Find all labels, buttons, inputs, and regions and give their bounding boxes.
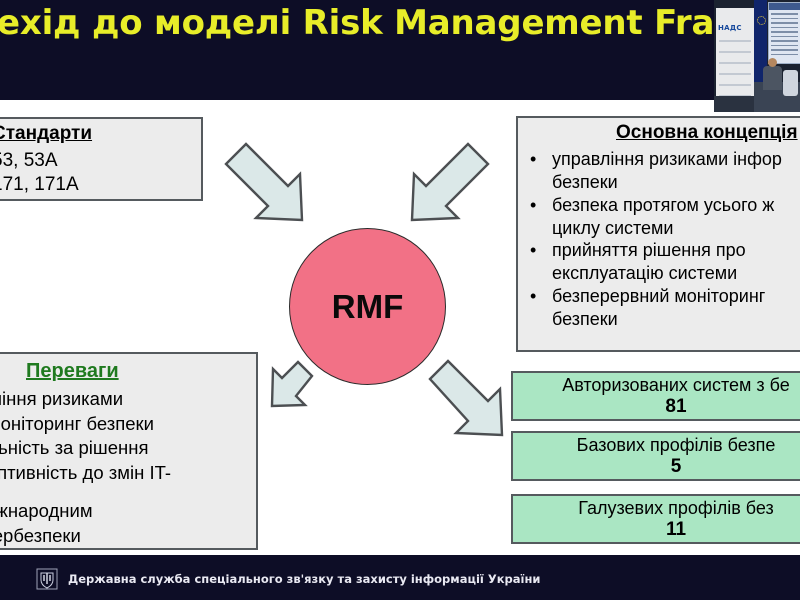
standards-box-lines: 800-53, 53A 800-171, 171A [0, 149, 195, 198]
advantages-box: Переваги управління ризиками вний моніто… [0, 352, 258, 550]
page-title: ерехід до моделі Risk Management Fram [0, 3, 749, 43]
bullet-text: прийняття рішення про [552, 239, 746, 262]
arrow-rmf-to-advantages-icon [256, 358, 318, 420]
webcam-projector-screen [768, 2, 800, 64]
trident-emblem-icon [36, 567, 58, 591]
stat-label: Базових профілів безпе [513, 433, 800, 456]
rmf-label: RMF [332, 288, 403, 326]
webcam-person-body [763, 66, 782, 90]
stat-value: 11 [513, 519, 800, 541]
bullet-item: • безпека протягом усього ж [526, 194, 800, 217]
slide-canvas: Стандарти 800-53, 53A 800-171, 171A Пере… [0, 100, 800, 555]
advantage-line: управління ризиками [0, 387, 248, 412]
bullet-text-wrap: безпеки [526, 171, 800, 194]
advantages-box-lines: управління ризиками вний моніторинг безп… [0, 387, 248, 549]
slide-title-bar: ерехід до моделі Risk Management Fram [0, 0, 800, 100]
webcam-chair [783, 70, 798, 96]
stat-value: 81 [513, 396, 800, 418]
standards-box-title: Стандарти [0, 123, 195, 145]
stat-label: Галузевих профілів без [513, 496, 800, 519]
bullet-dot-icon: • [526, 148, 552, 171]
stat-value: 5 [513, 456, 800, 478]
bullet-text: управління ризиками інфор [552, 148, 782, 171]
bullet-text-wrap: циклу системи [526, 217, 800, 240]
arrow-rmf-to-stats-icon [424, 355, 516, 447]
main-concept-box: Основна концепція • управління ризиками … [516, 116, 800, 352]
stat-box-sector-profiles: Галузевих профілів без 11 [511, 494, 800, 544]
arrow-standards-to-rmf-icon [218, 136, 310, 228]
advantages-box-title: Переваги [0, 360, 248, 383]
bullet-dot-icon: • [526, 239, 552, 262]
standards-line: 800-171, 171A [0, 173, 195, 197]
bullet-dot-icon: • [526, 285, 552, 308]
stat-label: Авторизованих систем з бе [513, 373, 800, 396]
bullet-item: • безперервний моніторинг [526, 285, 800, 308]
stat-box-base-profiles: Базових профілів безпе 5 [511, 431, 800, 481]
advantage-line: овідальність за рішення [0, 436, 248, 461]
bullet-item: • управління ризиками інфор [526, 148, 800, 171]
bullet-text: безперервний моніторинг [552, 285, 765, 308]
advantages-gap [0, 485, 248, 499]
presentation-slide: ерехід до моделі Risk Management Fram Ст… [0, 0, 800, 600]
stat-box-authorized-systems: Авторизованих систем з бе 81 [511, 371, 800, 421]
standards-line: 800-53, 53A [0, 149, 195, 173]
main-concept-box-title: Основна концепція [526, 122, 800, 144]
webcam-eu-flag-stars-icon [757, 16, 766, 25]
standards-box: Стандарти 800-53, 53A 800-171, 171A [0, 117, 203, 201]
arrow-concept-to-rmf-icon [404, 136, 496, 228]
webcam-screen-lines [771, 13, 798, 58]
bullet-item: • прийняття рішення про [526, 239, 800, 262]
advantage-line: ість міжнародним [0, 499, 248, 524]
webcam-person-head [768, 58, 777, 67]
advantage-line: вний моніторинг безпеки [0, 412, 248, 437]
main-concept-bullet-list: • управління ризиками інфор безпеки • бе… [526, 148, 800, 331]
bullet-text-wrap: експлуатацію системи [526, 262, 800, 285]
slide-footer: Державна служба спеціального зв'язку та … [0, 555, 800, 600]
webcam-video-overlay[interactable]: НАДС [714, 0, 800, 112]
bullet-dot-icon: • [526, 194, 552, 217]
webcam-banner-text: НАДС [718, 24, 742, 32]
footer-text: Державна служба спеціального зв'язку та … [68, 572, 540, 586]
advantage-line: та адаптивність до змін IT- [0, 461, 248, 486]
bullet-text-wrap: безпеки [526, 308, 800, 331]
webcam-screen-header [769, 3, 800, 10]
bullet-text: безпека протягом усього ж [552, 194, 774, 217]
advantage-line: ам кібербезпеки [0, 524, 248, 549]
